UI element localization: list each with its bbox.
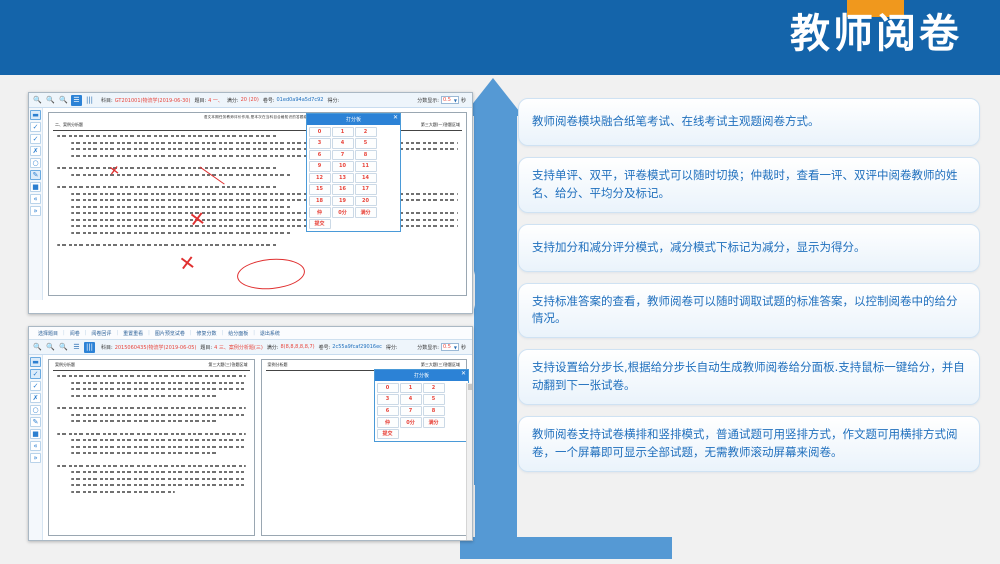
list-view-icon[interactable]: ☰ [71, 342, 82, 353]
slide-root: 教师阅卷 🔍 🔍 🔍 ☰ ||| 科目: GT201001(物流学)2019-0… [0, 0, 1000, 564]
header-bar: 教师阅卷 [0, 0, 1000, 75]
subject-value: 2015060435(物流学)2019-06-05) [115, 344, 197, 351]
score-panel-title-text: 打分板 [346, 116, 361, 123]
score-key[interactable]: 3 [309, 138, 331, 149]
grid-view-icon[interactable]: ||| [84, 342, 95, 353]
prev-icon[interactable]: « [30, 194, 41, 204]
handwriting-line [57, 433, 246, 435]
zoom-reset-icon[interactable]: 🔍 [45, 342, 56, 353]
score-key[interactable]: 8 [423, 406, 445, 417]
score-field: 得分: [327, 97, 339, 104]
sheet-section-label: 二、案例分析题 [55, 122, 83, 128]
screenshot-top-grading-window[interactable]: 🔍 🔍 🔍 ☰ ||| 科目: GT201001(物流学)2019-06-30)… [28, 92, 473, 314]
score-key[interactable]: 6 [377, 406, 399, 417]
score-display-select[interactable]: 0.5 ▼ [441, 96, 459, 104]
handwriting-line [57, 167, 278, 169]
handwriting-line [71, 471, 246, 473]
score-key[interactable]: 20 [355, 196, 377, 207]
handwriting-line [57, 465, 246, 467]
fullscore-value: 20 (20) [241, 97, 259, 103]
score-key[interactable]: 0 [377, 383, 399, 394]
subject-field: 科目: GT201001(物流学)2019-06-30) [101, 97, 190, 104]
papernum-label: 卷号: [263, 97, 275, 104]
handwriting-line [71, 414, 246, 416]
handwriting-line [57, 375, 246, 377]
close-icon[interactable]: ✕ [461, 371, 466, 377]
question-value: 4 三、案例分析题(三) [214, 344, 263, 351]
sheet-section-label: 案例分析题 [55, 362, 75, 368]
subject-label: 科目: [101, 344, 113, 351]
score-panel-title: 打分板 ✕ [307, 114, 400, 125]
red-cross-mark: ✕ [178, 252, 197, 274]
list-view-icon[interactable]: ☰ [71, 95, 82, 106]
check-icon[interactable]: ✓ [30, 369, 41, 379]
score-key[interactable]: 5 [423, 394, 445, 405]
handwriting-line [71, 484, 246, 486]
trash-icon[interactable]: ■ [30, 182, 41, 192]
score-key[interactable]: 11 [355, 161, 377, 172]
feature-callout-1: 教师阅卷模块融合纸笔考试、在线考试主观题阅卷方式。 [518, 98, 980, 146]
sheet-region-label: 第三大题(三)答题区域 [208, 362, 247, 368]
score-key[interactable]: 1 [332, 127, 354, 138]
handwriting-line [71, 206, 292, 208]
sheet-subheader: 二、案例分析题 第三大题(一)答题区域 [49, 120, 466, 128]
zoom-out-icon[interactable]: 🔍 [32, 95, 43, 106]
cross-icon[interactable]: ✗ [30, 393, 41, 403]
score-panel-title: 打分板 ✕ [375, 370, 468, 381]
score-key[interactable]: 7 [332, 150, 354, 161]
menu-item-grading[interactable]: 阅卷 [65, 330, 85, 337]
handwriting-line [57, 407, 246, 409]
menu-item-select-question[interactable]: 选择题目 [33, 330, 63, 337]
feature-callout-4: 支持标准答案的查看，教师阅卷可以随时调取试题的标准答案，以控制阅卷中的给分情况。 [518, 283, 980, 339]
score-label: 得分: [327, 97, 339, 104]
score-display-group[interactable]: 分数显示: 0.5 ▼ 秒 [417, 96, 469, 104]
fullscore-field: 满分: 8(8,8,8,8,8,7) [267, 344, 315, 351]
handwriting-line [71, 452, 218, 454]
score-display-unit: 秒 [461, 97, 466, 104]
handwritten-answer-body [49, 131, 466, 255]
handwritten-answer-body [49, 371, 254, 501]
page-title: 教师阅卷 [790, 14, 962, 54]
handwriting-line [71, 491, 175, 493]
score-panel-keys[interactable]: 0 1 2 3 4 5 6 7 8 仲 0分 满分 提交 [375, 381, 468, 441]
score-key[interactable]: 3 [377, 394, 399, 405]
fullscore-field: 满分: 20 (20) [227, 97, 259, 104]
fullscore-label: 满分: [267, 344, 279, 351]
check-icon[interactable]: ✓ [30, 122, 41, 132]
score-key[interactable]: 4 [400, 394, 422, 405]
score-key[interactable]: 17 [355, 184, 377, 195]
handwriting-line [71, 232, 292, 234]
score-key[interactable]: 19 [332, 196, 354, 207]
score-key[interactable]: 7 [400, 406, 422, 417]
papernum-field: 卷号: 01ed0a94a5d7c92 [263, 97, 324, 104]
submit-button[interactable]: 提交 [309, 219, 331, 230]
score-key[interactable]: 10 [332, 161, 354, 172]
menu-item-score-panel[interactable]: 给分面板 [223, 330, 253, 337]
menu-item-fix-score[interactable]: 修复分数 [192, 330, 222, 337]
score-key[interactable]: 2 [355, 127, 377, 138]
top-sheet-area: 语文本期任务教师评价作用,是本次在当科目合格知识的答题卷号 二、案例分析题 第三… [43, 108, 472, 300]
next-icon[interactable]: » [30, 453, 41, 463]
handwriting-line [57, 186, 278, 188]
bottom-annotation-rail[interactable]: ▬ ✓ ✓ ✗ ○ ✎ ■ « » [29, 355, 43, 540]
ellipse-icon[interactable]: ○ [30, 405, 41, 415]
prev-icon[interactable]: « [30, 441, 41, 451]
score-key[interactable]: 1 [400, 383, 422, 394]
sheet-region-label: 第三大题(一)答题区域 [421, 122, 460, 128]
subject-field: 科目: 2015060435(物流学)2019-06-05) [101, 344, 196, 351]
fullscore-value: 8(8,8,8,8,8,7) [280, 344, 314, 350]
score-key[interactable]: 9 [309, 161, 331, 172]
score-key[interactable]: 16 [332, 184, 354, 195]
score-field: 得分: [386, 344, 398, 351]
bottom-menubar[interactable]: 选择题目 | 阅卷 | 阅卷回评 | 重置重看 | 图片预览试卷 | 修复分数 … [29, 327, 472, 340]
sheet-section-label: 案例分析题 [268, 362, 288, 368]
half-check-icon[interactable]: ✓ [30, 381, 41, 391]
subject-value: GT201001(物流学)2019-06-30) [115, 97, 191, 104]
score-display-select[interactable]: 0.5 ▼ [441, 343, 459, 351]
papernum-field: 卷号: 2c55a9fcaf29016ec [319, 344, 382, 351]
score-panel-title-text: 打分板 [414, 372, 429, 379]
top-annotation-rail[interactable]: ▬ ✓ ✓ ✗ ○ ✎ ■ « » [29, 108, 43, 300]
menu-item-reset[interactable]: 重置重看 [118, 330, 148, 337]
score-display-value: 0.5 [443, 97, 451, 103]
zoom-out-icon[interactable]: 🔍 [32, 342, 43, 353]
score-display-unit: 秒 [461, 344, 466, 351]
papernum-value: 2c55a9fcaf29016ec [332, 344, 382, 350]
sheet-subheader: 案例分析题 第三大题(三)答题区域 [262, 360, 467, 368]
score-display-value: 0.5 [443, 344, 451, 350]
top-toolbar[interactable]: 🔍 🔍 🔍 ☰ ||| 科目: GT201001(物流学)2019-06-30)… [29, 93, 472, 108]
handwriting-line [71, 395, 218, 397]
feature-callout-6: 教师阅卷支持试卷横排和竖排模式，普通试题可用竖排方式，作文题可用横排方式阅卷，一… [518, 416, 980, 472]
zero-score-key[interactable]: 0分 [400, 417, 422, 428]
menu-item-preview[interactable]: 图片预览试卷 [150, 330, 190, 337]
question-value: 4 一、 [208, 97, 223, 104]
menu-item-exit[interactable]: 退出系统 [255, 330, 285, 337]
fullscore-label: 满分: [227, 97, 239, 104]
feature-callout-2: 支持单评、双平，评卷模式可以随时切换；仲裁时，查看一评、双评中阅卷教师的姓名、给… [518, 157, 980, 213]
zoom-in-icon[interactable]: 🔍 [58, 342, 69, 353]
handwriting-line [71, 420, 218, 422]
score-key[interactable]: 14 [355, 173, 377, 184]
screenshot-bottom-grading-window[interactable]: 选择题目 | 阅卷 | 阅卷回评 | 重置重看 | 图片预览试卷 | 修复分数 … [28, 326, 473, 541]
arrow-footer [460, 537, 672, 559]
bottom-toolbar[interactable]: 🔍 🔍 🔍 ☰ ||| 科目: 2015060435(物流学)2019-06-0… [29, 340, 472, 355]
grid-view-icon[interactable]: ||| [84, 95, 95, 106]
score-key[interactable]: 5 [355, 138, 377, 149]
handwriting-line [71, 446, 246, 448]
submit-button[interactable]: 提交 [377, 429, 399, 440]
score-key[interactable]: 18 [309, 196, 331, 207]
pencil-icon[interactable]: ✎ [30, 170, 41, 180]
top-app-body: ▬ ✓ ✓ ✗ ○ ✎ ■ « » 语文本期任务教师评价作用,是本次在当科目合格… [29, 108, 472, 300]
answer-sheet[interactable]: 语文本期任务教师评价作用,是本次在当科目合格知识的答题卷号 二、案例分析题 第三… [48, 112, 467, 296]
handwriting-line [71, 388, 246, 390]
ellipse-icon[interactable]: ○ [30, 158, 41, 168]
feature-callout-5: 支持设置给分步长,根据给分步长自动生成教师阅卷给分面板.支持鼠标一键给分，并自动… [518, 349, 980, 405]
score-key[interactable]: 13 [332, 173, 354, 184]
score-display-group[interactable]: 分数显示: 0.5 ▼ 秒 [417, 343, 469, 351]
sheet-header-text: 语文本期任务教师评价作用,是本次在当科目合格知识的答题卷号 [49, 113, 466, 120]
next-icon[interactable]: » [30, 206, 41, 216]
papernum-label: 卷号: [319, 344, 331, 351]
answer-sheet-left[interactable]: 案例分析题 第三大题(三)答题区域 [48, 359, 255, 536]
handwriting-line [71, 174, 292, 176]
full-score-key[interactable]: 满分 [423, 417, 445, 428]
arbitration-key[interactable]: 仲 [377, 417, 399, 428]
score-key[interactable]: 4 [332, 138, 354, 149]
close-icon[interactable]: ✕ [393, 115, 398, 121]
full-score-key[interactable]: 满分 [355, 207, 377, 218]
trash-icon[interactable]: ■ [30, 429, 41, 439]
cross-icon[interactable]: ✗ [30, 146, 41, 156]
score-display-label: 分数显示: [417, 97, 439, 104]
handwriting-line [71, 478, 246, 480]
vertical-scrollbar[interactable] [466, 383, 472, 540]
minus-icon[interactable]: ▬ [30, 357, 41, 367]
feature-list: 教师阅卷模块融合纸笔考试、在线考试主观题阅卷方式。 支持单评、双平，评卷模式可以… [518, 98, 980, 483]
feature-callout-3: 支持加分和减分评分模式，减分模式下标记为减分，显示为得分。 [518, 224, 980, 272]
chevron-down-icon[interactable]: ▼ [454, 98, 457, 103]
bottom-app-body: ▬ ✓ ✓ ✗ ○ ✎ ■ « » 案例分析题 第三大题(三)答题区域 [29, 355, 472, 540]
score-panel-bottom[interactable]: 打分板 ✕ 0 1 2 3 4 5 6 7 8 仲 0分 满分 提交 [374, 369, 469, 442]
arbitration-key[interactable]: 仲 [309, 207, 331, 218]
chevron-down-icon[interactable]: ▼ [454, 345, 457, 350]
handwriting-line [57, 244, 278, 246]
handwriting-line [71, 382, 246, 384]
menu-item-review[interactable]: 阅卷回评 [86, 330, 116, 337]
minus-icon[interactable]: ▬ [30, 110, 41, 120]
question-label: 题目: [194, 97, 206, 104]
score-key[interactable]: 15 [309, 184, 331, 195]
zoom-in-icon[interactable]: 🔍 [58, 95, 69, 106]
sheet-region-label: 第三大题(三)答题区域 [421, 362, 460, 368]
red-circle-mark [236, 256, 306, 292]
arrow-body [475, 113, 517, 553]
handwriting-line [57, 135, 278, 137]
score-label: 得分: [386, 344, 398, 351]
subject-label: 科目: [101, 97, 113, 104]
score-key[interactable]: 8 [355, 150, 377, 161]
question-field: 题目: 4 三、案例分析题(三) [200, 344, 262, 351]
question-label: 题目: [200, 344, 212, 351]
pencil-icon[interactable]: ✎ [30, 417, 41, 427]
handwriting-line [71, 439, 246, 441]
score-key[interactable]: 6 [309, 150, 331, 161]
score-panel-keys[interactable]: 0 1 2 3 4 5 6 7 8 9 10 11 12 13 14 15 16 [307, 125, 400, 231]
half-check-icon[interactable]: ✓ [30, 134, 41, 144]
question-field: 题目: 4 一、 [194, 97, 222, 104]
score-key[interactable]: 0 [309, 127, 331, 138]
score-display-label: 分数显示: [417, 344, 439, 351]
sheet-subheader: 案例分析题 第三大题(三)答题区域 [49, 360, 254, 368]
score-key[interactable]: 12 [309, 173, 331, 184]
papernum-value: 01ed0a94a5d7c92 [277, 97, 324, 103]
score-key[interactable]: 2 [423, 383, 445, 394]
score-panel-top[interactable]: 打分板 ✕ 0 1 2 3 4 5 6 7 8 9 10 11 12 [306, 113, 401, 232]
zero-score-key[interactable]: 0分 [332, 207, 354, 218]
zoom-reset-icon[interactable]: 🔍 [45, 95, 56, 106]
